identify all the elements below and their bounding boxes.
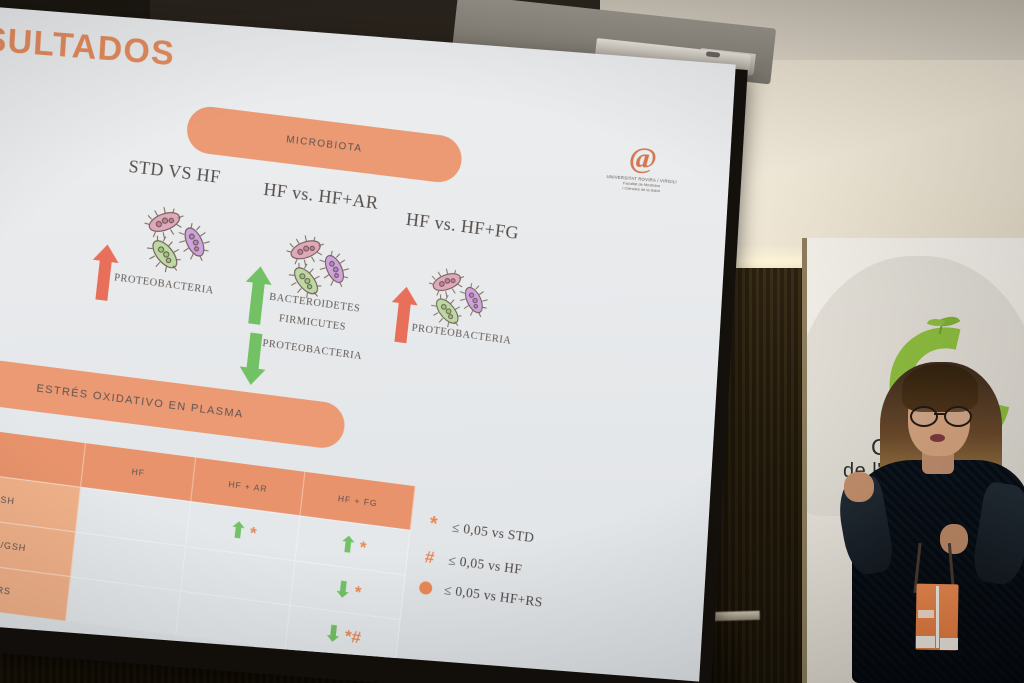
presenter-mouth — [930, 434, 945, 442]
asterisk-icon: * — [422, 512, 444, 537]
urv-mark-icon: @ — [599, 140, 687, 177]
glasses-lens-right — [944, 406, 972, 427]
glasses-lens-left — [910, 406, 938, 427]
dot-icon — [419, 580, 433, 595]
projection-screen: ESULTADOS @ UNIVERSITAT ROVIRA i VIRGILI… — [0, 4, 736, 682]
oxidative-stress-banner: ESTRÉS OXIDATIVO EN PLASMA — [0, 357, 347, 451]
slide-content: ESULTADOS @ UNIVERSITAT ROVIRA i VIRGILI… — [0, 4, 736, 682]
oxidative-stress-table: HF HF + AR HF + FG GSH ⬆ * ⬆ * — [0, 424, 416, 665]
arrow-up-icon: ⬆ — [338, 533, 358, 556]
legend-item: ≤ 0,05 vs HF+RS — [415, 578, 543, 610]
significance-star-icon: * — [359, 538, 367, 556]
presenter-hand-right — [940, 524, 968, 554]
badge-bottom-left — [916, 636, 935, 648]
arrow-up-proteobacteria-2 — [387, 285, 420, 349]
comparison-label-3: HF vs. HF+FG — [405, 209, 520, 244]
taxa-label-2b: FIRMICUTES — [278, 313, 346, 333]
legend-text: ≤ 0,05 vs HF+RS — [443, 582, 543, 611]
legend-text: ≤ 0,05 vs STD — [451, 519, 535, 546]
comparison-label-1: STD VS HF — [128, 156, 222, 188]
glasses-icon — [910, 406, 970, 423]
significance-star-icon: * — [354, 583, 362, 601]
arrow-down-icon: ⬇ — [323, 622, 343, 645]
presentation-photo: ESULTADOS @ UNIVERSITAT ROVIRA i VIRGILI… — [0, 0, 1024, 683]
comparison-label-2: HF vs. HF+AR — [263, 179, 380, 214]
significance-marks: *# — [344, 627, 362, 646]
legend-item: * ≤ 0,05 vs STD — [422, 512, 551, 551]
presenter-fringe — [902, 364, 978, 412]
badge-text-block — [918, 610, 934, 618]
university-logo: @ UNIVERSITAT ROVIRA i VIRGILI Facultat … — [598, 140, 687, 195]
legend-text: ≤ 0,05 vs HF — [448, 552, 523, 577]
slide-title: ESULTADOS — [0, 18, 176, 74]
badge-divider — [936, 586, 939, 648]
presenter-hand-left — [844, 472, 874, 502]
arrow-down-icon: ⬇ — [333, 578, 353, 601]
taxa-label-2c: PROTEOBACTERIA — [262, 338, 363, 362]
microbiota-banner: MICROBIOTA — [185, 104, 464, 185]
presenter — [846, 348, 1024, 683]
bacteria-cluster-icon — [134, 199, 222, 287]
significance-star-icon: * — [249, 524, 257, 542]
significance-legend: * ≤ 0,05 vs STD # ≤ 0,05 vs HF ≤ 0,05 vs… — [414, 512, 551, 623]
hash-icon: # — [419, 547, 441, 569]
badge-bottom-right — [940, 638, 958, 650]
legend-item: # ≤ 0,05 vs HF — [419, 547, 547, 583]
arrow-up-icon: ⬆ — [228, 519, 248, 542]
